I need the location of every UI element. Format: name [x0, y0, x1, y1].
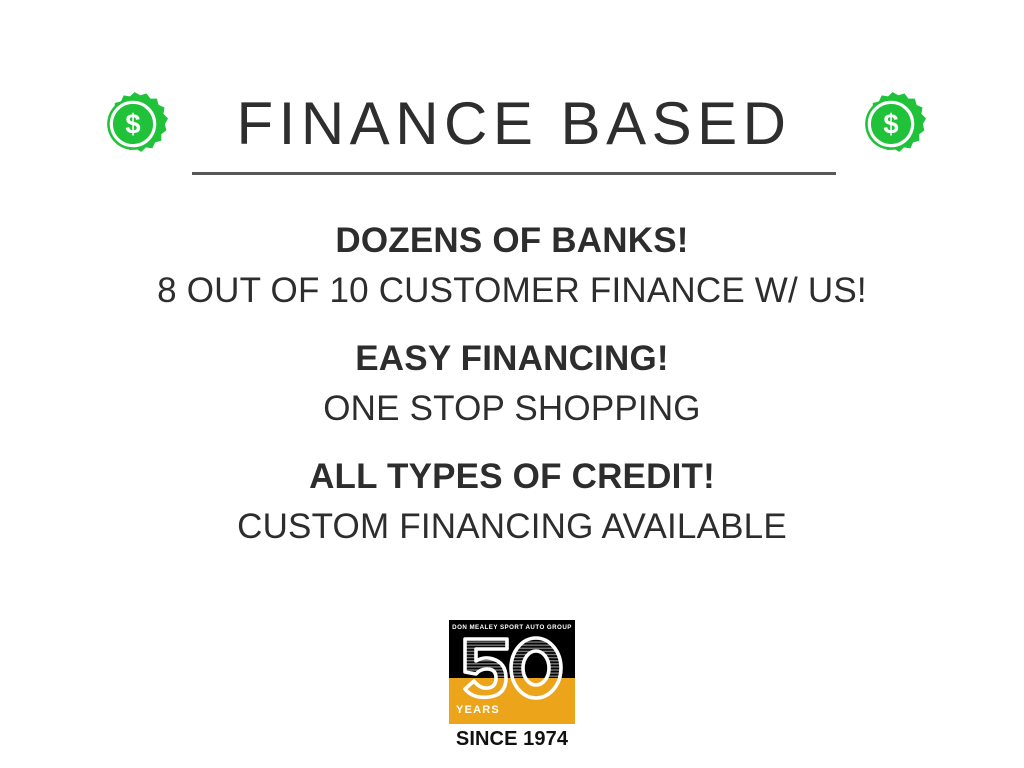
header: $ FINANCE BASED $ — [0, 80, 1024, 168]
copy-subline: 8 OUT OF 10 CUSTOMER FINANCE W/ US! — [0, 266, 1024, 316]
logo-brand-name: DON MEALEY SPORT AUTO GROUP — [449, 623, 575, 632]
copy-headline: DOZENS OF BANKS! — [0, 216, 1024, 266]
svg-text:$: $ — [125, 109, 140, 140]
anniversary-50-graphic — [449, 629, 575, 709]
copy-headline: ALL TYPES OF CREDIT! — [0, 452, 1024, 502]
page-title: FINANCE BASED — [237, 94, 792, 154]
logo-years-label: YEARS — [456, 704, 500, 717]
copy-headline: EASY FINANCING! — [0, 334, 1024, 384]
copy-block-all-credit: ALL TYPES OF CREDIT! CUSTOM FINANCING AV… — [0, 452, 1024, 552]
dealer-logo: DON MEALEY SPORT AUTO GROUP — [449, 620, 575, 751]
title-divider — [192, 172, 836, 175]
copy-block-banks: DOZENS OF BANKS! 8 OUT OF 10 CUSTOMER FI… — [0, 216, 1024, 316]
anniversary-badge: DON MEALEY SPORT AUTO GROUP — [449, 620, 575, 724]
money-gear-icon: $ — [95, 86, 171, 162]
svg-text:$: $ — [884, 109, 899, 140]
copy-subline: CUSTOM FINANCING AVAILABLE — [0, 502, 1024, 552]
copy-block-easy-financing: EASY FINANCING! ONE STOP SHOPPING — [0, 334, 1024, 434]
finance-based-slide: $ FINANCE BASED $ DOZENS OF BANKS! 8 OUT… — [0, 0, 1024, 768]
logo-since-label: SINCE 1974 — [449, 727, 575, 751]
copy-subline: ONE STOP SHOPPING — [0, 384, 1024, 434]
money-gear-icon: $ — [853, 86, 929, 162]
